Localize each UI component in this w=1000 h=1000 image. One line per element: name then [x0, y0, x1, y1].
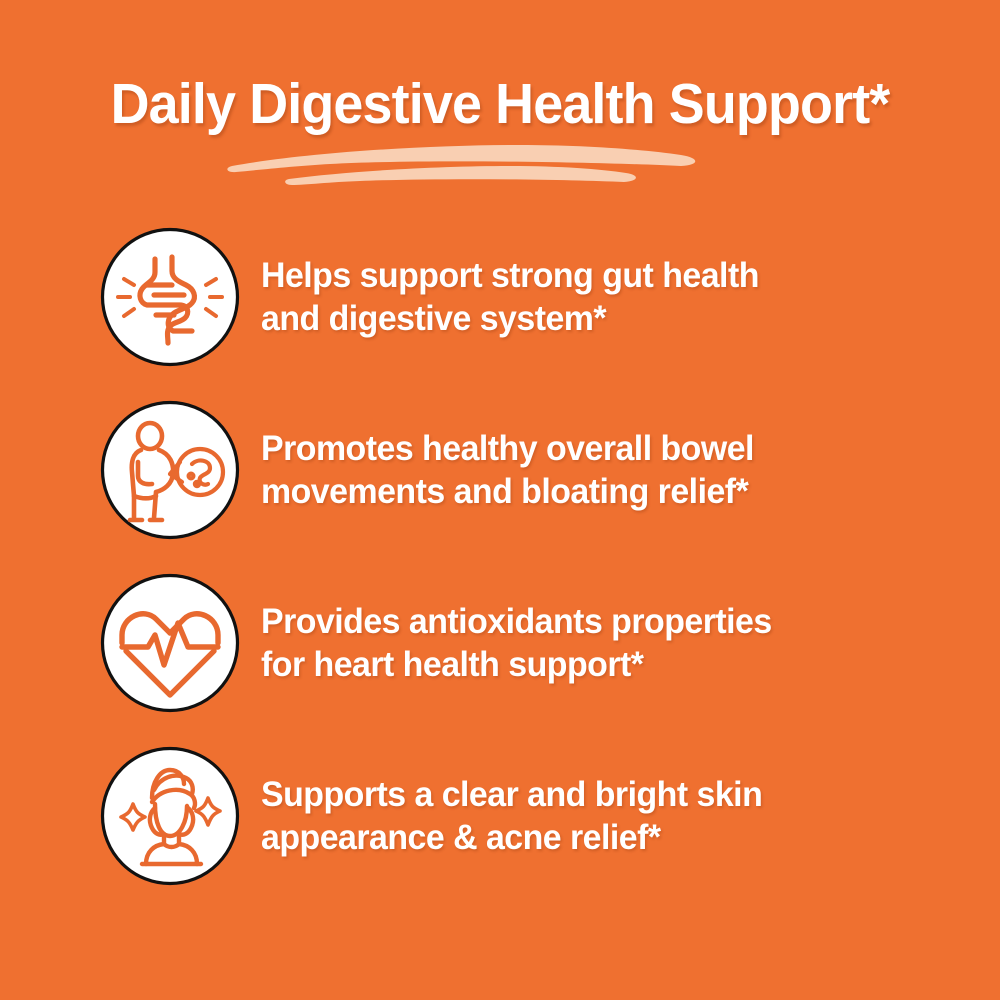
intestine-icon	[100, 227, 240, 367]
benefit-icon-badge	[100, 746, 240, 886]
infographic-panel: Daily Digestive Health Support*	[0, 0, 1000, 1000]
benefit-row-heart-health: Provides antioxidants properties for hea…	[0, 573, 1000, 713]
benefit-text: Provides antioxidants properties for hea…	[261, 600, 929, 687]
benefit-icon-badge	[100, 573, 240, 713]
benefit-row-gut-health: Helps support strong gut health and dige…	[0, 227, 1000, 367]
benefit-text-line-1: Promotes healthy overall bowel	[261, 427, 929, 470]
heart-pulse-icon	[100, 573, 240, 713]
benefit-text-line-2: appearance & acne relief*	[261, 816, 929, 859]
bloated-person-icon	[100, 400, 240, 540]
page-title: Daily Digestive Health Support*	[28, 74, 973, 134]
benefit-text: Promotes healthy overall bowel movements…	[261, 427, 929, 514]
benefit-text: Helps support strong gut health and dige…	[261, 254, 929, 341]
header: Daily Digestive Health Support*	[0, 74, 1000, 186]
benefit-text-line-1: Supports a clear and bright skin	[261, 773, 929, 816]
benefit-text-line-1: Helps support strong gut health	[261, 254, 929, 297]
benefit-icon-badge	[100, 227, 240, 367]
benefit-row-bowel-movements: Promotes healthy overall bowel movements…	[0, 400, 1000, 540]
benefits-list: Helps support strong gut health and dige…	[0, 227, 1000, 919]
swash-icon	[0, 140, 1000, 186]
benefit-text: Supports a clear and bright skin appeara…	[261, 773, 929, 860]
title-underline-swash	[0, 140, 1000, 186]
glowing-skin-face-icon	[100, 746, 240, 886]
benefit-row-skin-health: Supports a clear and bright skin appeara…	[0, 746, 1000, 886]
benefit-text-line-1: Provides antioxidants properties	[261, 600, 929, 643]
benefit-text-line-2: movements and bloating relief*	[261, 470, 929, 513]
benefit-text-line-2: for heart health support*	[261, 643, 929, 686]
benefit-text-line-2: and digestive system*	[261, 297, 929, 340]
benefit-icon-badge	[100, 400, 240, 540]
